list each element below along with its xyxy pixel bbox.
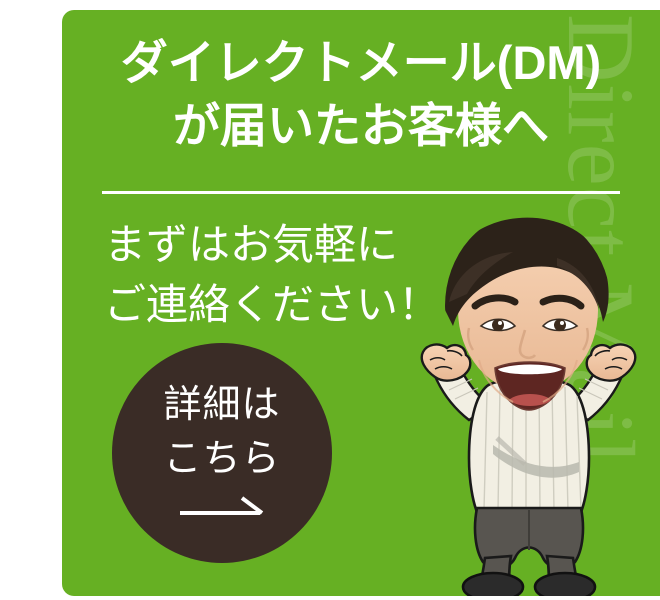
details-cta-button[interactable]: 詳細は こちら bbox=[112, 343, 332, 563]
page-title: ダイレクトメール(DM) が届いたお客様へ bbox=[62, 32, 660, 158]
headline-line-1: ダイレクトメール(DM) bbox=[62, 32, 660, 95]
subheading-line-1: まずはお気軽に bbox=[104, 215, 440, 275]
cta-label: 詳細は こちら bbox=[112, 379, 332, 487]
cta-label-line-2: こちら bbox=[112, 433, 332, 487]
right-fist bbox=[587, 345, 636, 381]
arrow-right-icon bbox=[178, 495, 266, 521]
promo-banner: Direct Mail ダイレクトメール(DM) が届いたお客様へ まずはお気軽… bbox=[62, 10, 660, 596]
subheading: まずはお気軽に ご連絡ください！ bbox=[104, 215, 440, 334]
headline-line-2: が届いたお客様へ bbox=[62, 95, 660, 158]
left-fist bbox=[422, 345, 471, 381]
character-illustration bbox=[397, 210, 660, 596]
divider bbox=[102, 191, 620, 194]
subheading-line-2: ご連絡ください！ bbox=[104, 275, 440, 335]
shoes bbox=[463, 573, 595, 596]
cta-label-line-1: 詳細は bbox=[112, 379, 332, 433]
